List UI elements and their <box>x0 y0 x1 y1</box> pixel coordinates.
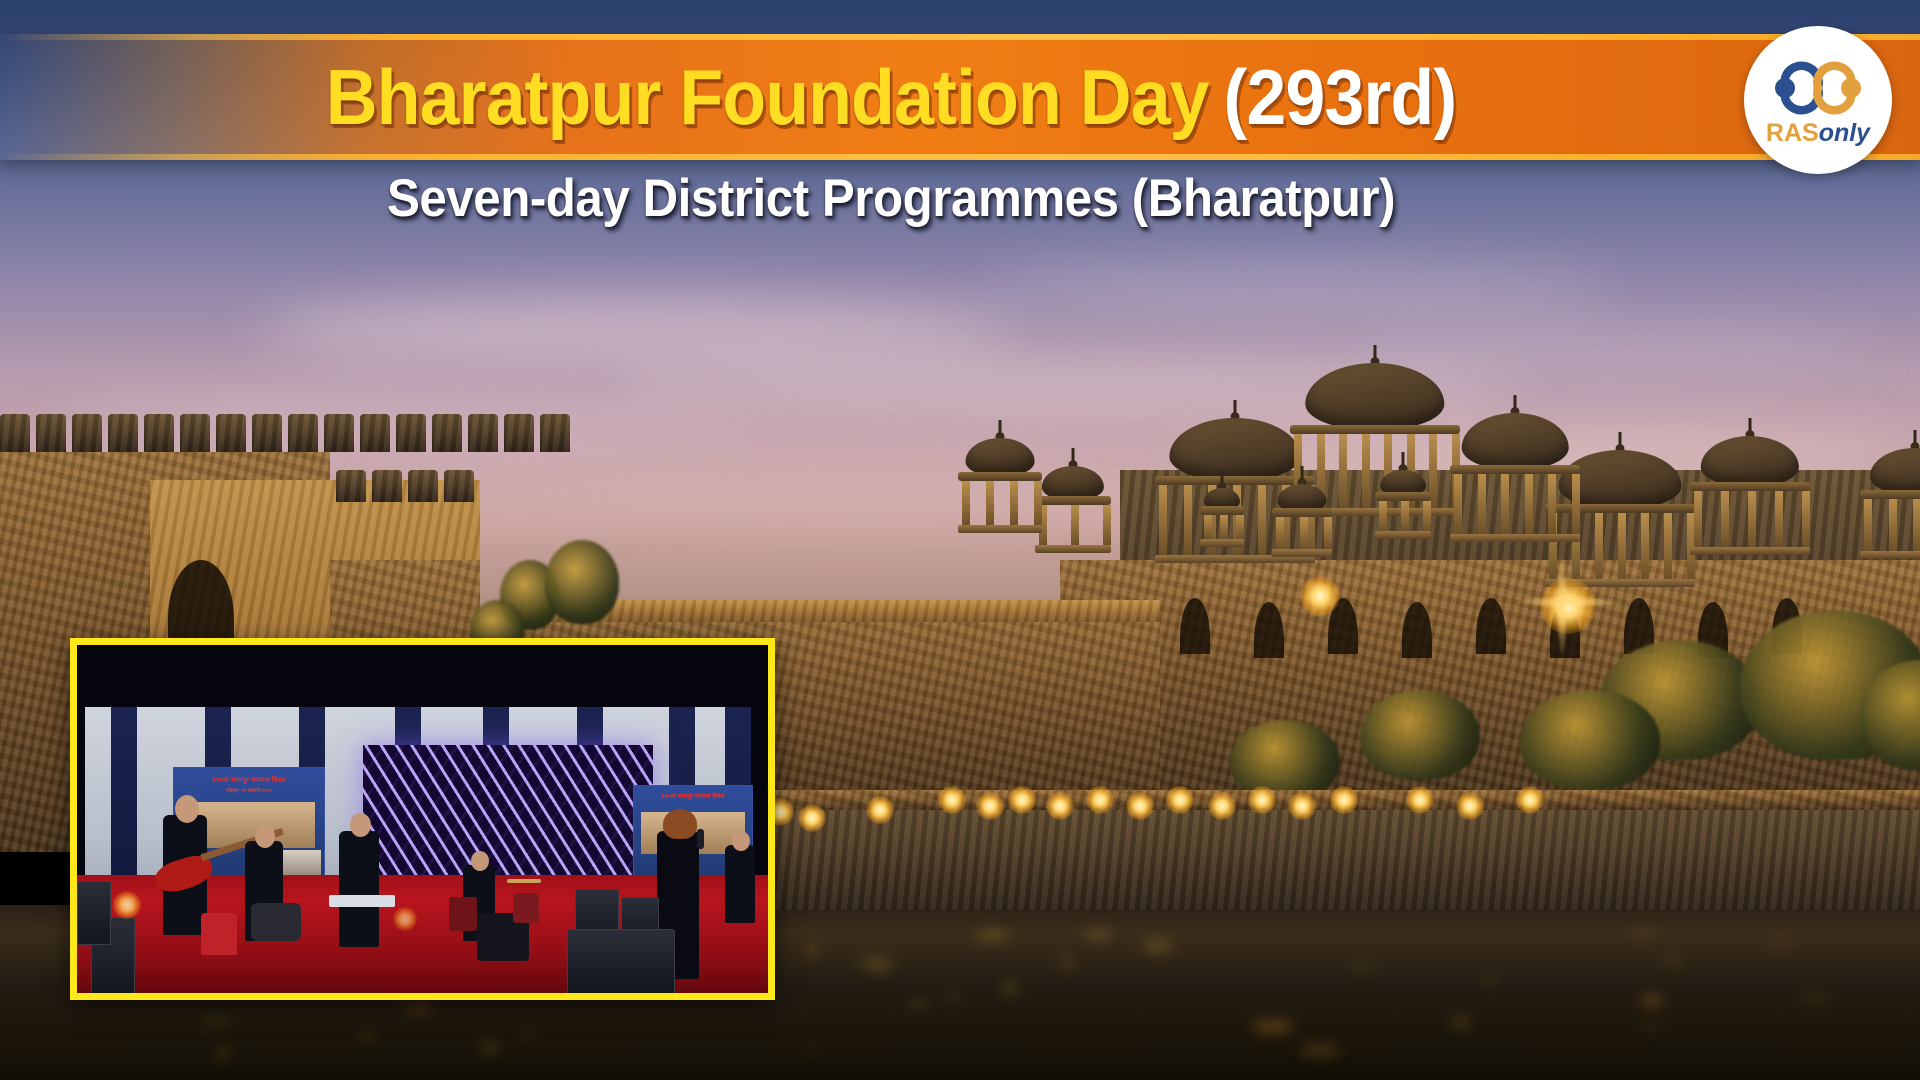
pavilion-column <box>1525 474 1533 534</box>
pavilion-base <box>1272 549 1332 557</box>
merlon-battlement <box>252 414 282 452</box>
merlon-battlement <box>180 414 210 452</box>
pavilion-column <box>1300 517 1308 549</box>
street-lamp-glow <box>938 786 966 814</box>
water-reflection-glint <box>401 1005 435 1011</box>
pavilion-column <box>1362 434 1370 508</box>
water-reflection-glint <box>1795 995 1833 999</box>
street-lamp-glow <box>1406 786 1434 814</box>
chhatri-pavilion-small <box>1860 430 1920 546</box>
pavilion-roof <box>1200 506 1244 515</box>
stage-monitor-speaker <box>567 929 675 995</box>
title-suffix-text: (293rd) <box>1223 58 1456 136</box>
water-reflection-glint <box>1767 940 1793 946</box>
pavilion-column <box>1339 434 1347 508</box>
pavilion-column <box>1501 474 1509 534</box>
pavilion-column <box>1220 515 1228 539</box>
stage-light-glow <box>393 907 417 931</box>
water-reflection-glint <box>947 992 958 1001</box>
chhatri-pavilion-main <box>1450 395 1580 529</box>
tree-canopy <box>545 540 619 624</box>
pavilion-base <box>1690 547 1810 555</box>
pavilion-column <box>1775 491 1783 547</box>
street-lamp-glow <box>1126 792 1154 820</box>
pavilion-base <box>958 525 1042 533</box>
merlon-battlement <box>444 470 474 502</box>
street-lamp-glow <box>1046 792 1074 820</box>
merlon-battlement <box>396 414 426 452</box>
pavilion-column <box>986 481 994 525</box>
water-reflection-glint <box>216 1050 230 1057</box>
pavilion-column <box>1595 513 1603 579</box>
plastic-chair <box>201 913 237 955</box>
street-lamp-glow <box>1008 786 1036 814</box>
water-reflection-glint <box>1252 1021 1295 1032</box>
pavilion-column <box>1379 501 1387 531</box>
merlon-battlement <box>324 414 354 452</box>
pavilion-column <box>1913 499 1920 551</box>
inset-concert-photo[interactable]: २९०वां भरतपुर स्थापना दिवस रविवार, १९ फर… <box>70 638 775 1000</box>
merlon-battlement <box>0 414 30 452</box>
street-lamp-glow <box>798 804 826 832</box>
merlon-battlement <box>372 470 402 502</box>
pavilion-roof <box>1272 508 1332 517</box>
pavilion-column <box>1401 501 1409 531</box>
pavilion-column <box>1010 481 1018 525</box>
water-reflection-glint <box>805 1047 819 1054</box>
street-lamp-glow <box>1330 786 1358 814</box>
water-reflection-glint <box>1452 1019 1469 1026</box>
pavilion-base <box>1200 539 1244 547</box>
fort-floodlight-glow <box>1300 576 1340 616</box>
tree-canopy <box>1520 690 1660 790</box>
rasonly-logo[interactable]: RASonly <box>1744 26 1892 174</box>
merlon-battlement <box>504 414 534 452</box>
pavilion-column <box>1159 485 1167 555</box>
pavilion-roof <box>1290 425 1460 434</box>
merlon-battlement <box>432 414 462 452</box>
water-reflection-glint <box>1665 960 1683 964</box>
street-lamp-glow <box>866 796 894 824</box>
tree-canopy <box>1360 690 1480 780</box>
pavilion-column <box>1548 474 1556 534</box>
pavilion-column <box>1694 491 1702 547</box>
water-reflection-glint <box>807 944 817 955</box>
fort-floodlight-ray <box>1556 556 1568 656</box>
pavilion-column <box>1864 499 1872 551</box>
merlon-battlement <box>36 414 66 452</box>
banner-hindi-date: रविवार, १९ फरवरी २०२२ <box>174 788 324 794</box>
poster-root: Bharatpur Foundation Day (293rd) Seven-d… <box>0 0 1920 1080</box>
pavilion-column <box>1478 474 1486 534</box>
logo-text-ras: RAS <box>1766 119 1819 147</box>
water-reflection-glint <box>1644 1024 1659 1029</box>
performer-head <box>175 795 199 823</box>
water-reflection-glint <box>202 1019 232 1023</box>
merlon-battlement <box>288 414 318 452</box>
water-reflection-glint <box>911 1000 926 1008</box>
pavilion-column <box>1423 501 1431 531</box>
pavilion-column <box>1641 513 1649 579</box>
performer-head <box>471 851 489 871</box>
tom-drum <box>449 897 477 931</box>
water-reflection-glint <box>1630 929 1654 938</box>
water-reflection-glint <box>1299 1045 1342 1055</box>
water-reflection-glint <box>1640 996 1664 1006</box>
dome <box>1870 448 1920 494</box>
chhatri-pavilion-small <box>1690 418 1810 542</box>
pavilion-column <box>1572 474 1580 534</box>
pavilion-roof <box>1690 482 1810 491</box>
merlon-battlement <box>540 414 570 452</box>
pavilion-column <box>1034 481 1042 525</box>
street-lamp-glow <box>1516 786 1544 814</box>
performer-head <box>255 825 275 848</box>
water-reflection-glint <box>362 1033 373 1041</box>
pavilion-roof <box>1035 496 1111 505</box>
dome <box>1042 466 1104 500</box>
chhatri-pavilion-small <box>1035 448 1111 540</box>
dholak-drum <box>251 903 301 941</box>
cloud-band <box>980 268 1620 312</box>
pavilion-column <box>1324 517 1332 549</box>
pavilion-base <box>1450 534 1580 542</box>
page-subtitle: Seven-day District Programmes (Bharatpur… <box>62 168 1719 229</box>
street-lamp-glow <box>1086 786 1114 814</box>
singer-hair <box>663 809 697 839</box>
pavilion-column <box>1258 485 1266 555</box>
pavilion-roof <box>1450 465 1580 474</box>
street-lamp-glow <box>976 792 1004 820</box>
title-main-text: Bharatpur Foundation Day <box>326 58 1209 136</box>
pavilion-column <box>1721 491 1729 547</box>
pavilion-column <box>1454 474 1462 534</box>
page-title: Bharatpur Foundation Day (293rd) <box>71 34 1710 160</box>
rampart-parapet <box>520 600 1160 622</box>
stage-light-glow <box>113 891 141 919</box>
street-lamp-glow <box>1166 786 1194 814</box>
merlon-battlement <box>108 414 138 452</box>
merlon-battlement <box>468 414 498 452</box>
water-reflection-glint <box>977 930 1008 941</box>
pavilion-column <box>1204 515 1212 539</box>
merlon-battlement <box>144 414 174 452</box>
tom-drum <box>513 893 539 923</box>
cloud-band <box>260 300 1020 360</box>
tree-canopy <box>1230 720 1340 800</box>
dome <box>1701 436 1799 486</box>
chhatri-pavilion-small <box>958 420 1042 520</box>
logo-text-only: only <box>1819 119 1870 147</box>
street-lamp-glow <box>1248 786 1276 814</box>
fort-floodlight-ray <box>1516 596 1620 608</box>
water-reflection-glint <box>1086 930 1110 937</box>
logo-wordmark: RASonly <box>1766 121 1870 146</box>
water-reflection-glint <box>1350 966 1377 971</box>
pavilion-column <box>1889 499 1897 551</box>
merlon-battlement <box>216 414 246 452</box>
title-banner: Bharatpur Foundation Day (293rd) <box>0 34 1920 160</box>
dome <box>966 438 1035 476</box>
street-lamp-glow <box>1208 792 1236 820</box>
cymbal <box>507 879 541 883</box>
performer-keyboardist <box>339 831 379 947</box>
pavilion-column <box>1664 513 1672 579</box>
pavilion-roof <box>1860 490 1920 499</box>
water-reflection-glint <box>1484 977 1497 984</box>
banner-hindi-title: २९०वां भरतपुर स्थापना दिवस <box>174 776 324 785</box>
merlon-battlement <box>336 470 366 502</box>
water-reflection-glint <box>481 1043 499 1054</box>
pavilion-column <box>1276 517 1284 549</box>
merlon-battlement <box>408 470 438 502</box>
pavilion-base <box>1860 551 1920 559</box>
performer-side-musician <box>725 845 755 923</box>
pavilion-column <box>1071 505 1079 545</box>
banner-hindi-title: २९०वां भरतपुर स्थापना दिवस <box>634 792 752 800</box>
pavilion-roof <box>1375 492 1431 501</box>
pavilion-base <box>1375 531 1431 539</box>
pavilion-column <box>1184 485 1192 555</box>
microphone <box>697 829 704 849</box>
pavilion-column <box>1802 491 1810 547</box>
water-reflection-glint <box>871 962 890 972</box>
pavilion-column <box>962 481 970 525</box>
chhatri-pavilion-tiny <box>1200 470 1244 534</box>
water-reflection-glint <box>1060 959 1073 967</box>
pavilion-column <box>1103 505 1111 545</box>
performer-head <box>350 813 371 837</box>
performer-head <box>732 831 750 851</box>
water-reflection-glint <box>1143 941 1173 951</box>
pa-speaker-stack <box>77 881 111 945</box>
infinity-loop-icon <box>1766 59 1870 117</box>
dome <box>1305 363 1444 429</box>
merlon-battlement <box>360 414 390 452</box>
water-reflection-glint <box>1003 984 1016 992</box>
merlon-battlement <box>72 414 102 452</box>
street-lamp-glow <box>1288 792 1316 820</box>
keyboard-instrument <box>329 895 395 907</box>
chhatri-pavilion-small <box>1272 466 1332 544</box>
chhatri-pavilion-small <box>1375 452 1431 526</box>
pavilion-column <box>1236 515 1244 539</box>
pavilion-base <box>1035 545 1111 553</box>
pavilion-roof <box>958 472 1042 481</box>
dome <box>1462 413 1569 469</box>
water-reflection-glint <box>519 1033 533 1038</box>
street-lamp-glow <box>1456 792 1484 820</box>
pavilion-column <box>1618 513 1626 579</box>
pavilion-column <box>1748 491 1756 547</box>
